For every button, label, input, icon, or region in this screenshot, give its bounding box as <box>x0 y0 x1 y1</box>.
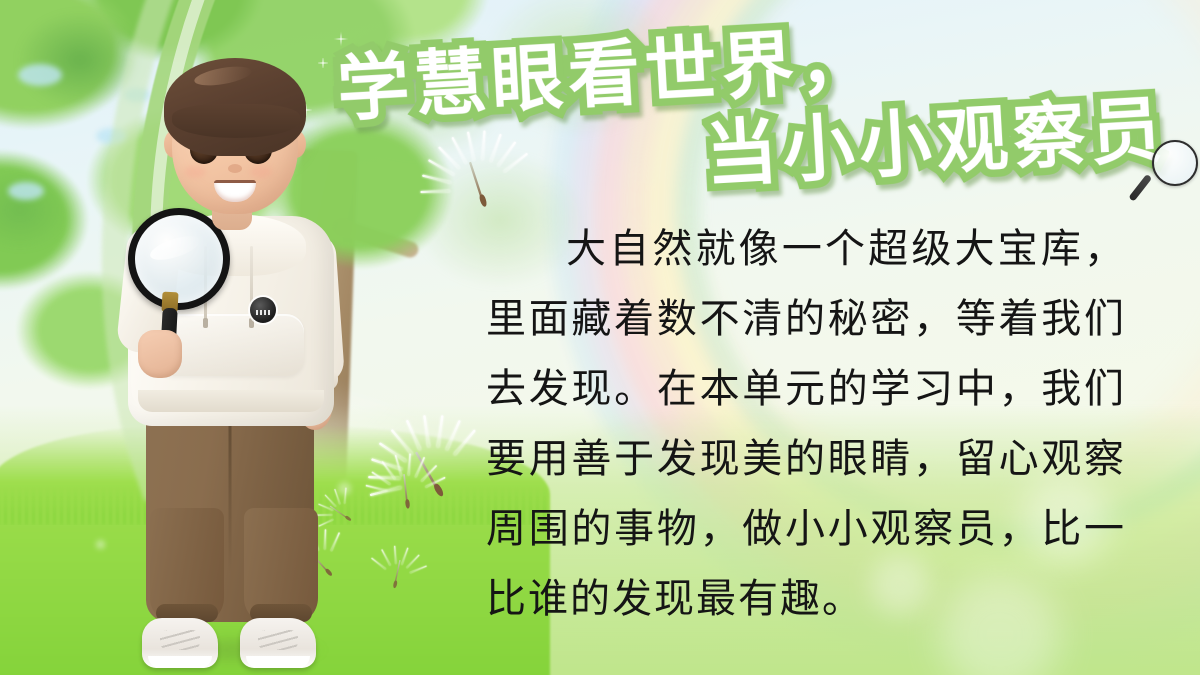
nose <box>228 164 242 173</box>
shoe-laces-left <box>160 630 200 650</box>
shoe-laces-right <box>258 630 298 650</box>
canopy-sky-gap <box>18 64 62 86</box>
body-paragraph: 大自然就像一个超级大宝库，里面藏着数不清的秘密，等着我们去发现。在本单元的学习中… <box>486 214 1126 634</box>
cheek-right <box>250 166 272 178</box>
cheek-left <box>184 166 206 178</box>
lens-glint <box>147 231 202 264</box>
hoodie-hem <box>138 390 324 412</box>
bokeh-dot <box>96 540 105 549</box>
magnifier-lens <box>1152 140 1198 186</box>
magnifying-glass-icon <box>1140 140 1198 212</box>
poster-canvas: 学慧眼看世界， 当小小观察员 大自然就像一个超级大宝库，里面藏着数不清的秘密，等… <box>0 0 1200 675</box>
boy-illustration <box>120 38 350 675</box>
canopy-sky-gap <box>8 182 44 200</box>
hoodie-logo <box>250 297 276 323</box>
hand-left <box>138 330 182 378</box>
